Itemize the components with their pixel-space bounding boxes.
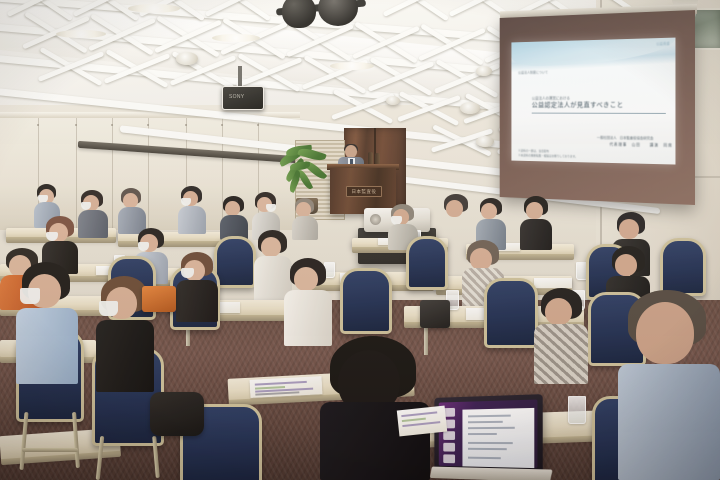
chair-rail — [22, 448, 78, 452]
projector-lens-icon — [370, 214, 381, 225]
slide-kicker: 公益法人制度について — [518, 70, 548, 75]
drinking-glass — [568, 396, 586, 424]
audience-member — [176, 252, 218, 322]
banquet-chair[interactable] — [406, 236, 442, 284]
laptop-screen[interactable] — [439, 400, 538, 469]
banquet-chair[interactable] — [340, 268, 386, 328]
ceiling-speaker-icon — [386, 96, 400, 105]
banquet-chair[interactable] — [660, 238, 700, 290]
projection-screen-surface: 公益貴重 公益法人制度について 公益法人の運営における 公益認定法人が見直すべき… — [511, 38, 675, 165]
laptop-lid — [434, 394, 542, 473]
audience-member — [78, 190, 108, 238]
dock-icon[interactable] — [443, 443, 455, 452]
ceiling-light-icon — [212, 34, 260, 42]
ceiling-speaker-icon — [176, 52, 198, 65]
podium-name-plate: 日本監査役 — [346, 186, 382, 197]
dock-icon[interactable] — [443, 454, 455, 463]
slide-header-wave — [511, 38, 675, 67]
ceiling-light-icon — [56, 30, 106, 38]
ceiling-speaker-icon — [460, 102, 480, 114]
backpack — [150, 392, 204, 436]
podium-name-plate-text: 日本監査役 — [347, 187, 381, 196]
handbag — [142, 286, 176, 312]
audience-member — [292, 198, 318, 240]
seminar-room-photo: SONY 公益貴重 公益法人制度について 公益法人の運営における 公益認定法人が… — [0, 0, 720, 480]
audience-member — [520, 196, 552, 250]
slide-title: 公益認定法人が見直すべきこと — [532, 102, 624, 110]
document-window[interactable] — [462, 408, 534, 468]
audience-member-foreground — [618, 290, 720, 480]
ceiling-projector-icon: SONY — [222, 86, 264, 110]
audience-member — [220, 196, 248, 240]
dock-icon[interactable] — [443, 431, 455, 440]
banquet-chair[interactable] — [214, 236, 250, 282]
ceiling-light-icon — [330, 62, 374, 70]
attendee-laptop[interactable] — [434, 394, 549, 480]
projection-screen-frame: 公益貴重 公益法人制度について 公益法人の運営における 公益認定法人が見直すべき… — [500, 10, 695, 205]
slide-corner-mark: 公益貴重 — [656, 42, 669, 47]
slide-organization: 一般社団法人 日本監査役協会研究会 — [597, 136, 654, 141]
audience-member — [284, 258, 332, 346]
audience-member — [16, 262, 78, 384]
ceiling-speaker-icon — [476, 66, 492, 76]
stage-light-icon — [282, 0, 316, 28]
projector-brand-label: SONY — [229, 94, 244, 100]
audience-member — [534, 288, 588, 384]
handout-paper — [534, 278, 572, 288]
handbag — [420, 300, 450, 328]
handout-paper — [250, 376, 323, 398]
projector-mount — [238, 66, 242, 88]
ceiling-light-icon — [128, 4, 180, 13]
slide-presenter: 代表理事 山田 講演 同席 — [610, 143, 673, 149]
slide-subtitle: 公益法人の運営における — [532, 96, 570, 101]
slide-rule — [532, 113, 666, 114]
audience-member — [178, 186, 206, 234]
handout-paper — [397, 406, 447, 437]
banquet-chair[interactable] — [484, 278, 532, 342]
scene-caption: Seminar room lecture photograph — [0, 470, 720, 480]
ceiling-speaker-icon — [476, 136, 494, 147]
slide-footnote: ※本資料の無断転載・複製はお断りしております。 — [518, 154, 577, 159]
